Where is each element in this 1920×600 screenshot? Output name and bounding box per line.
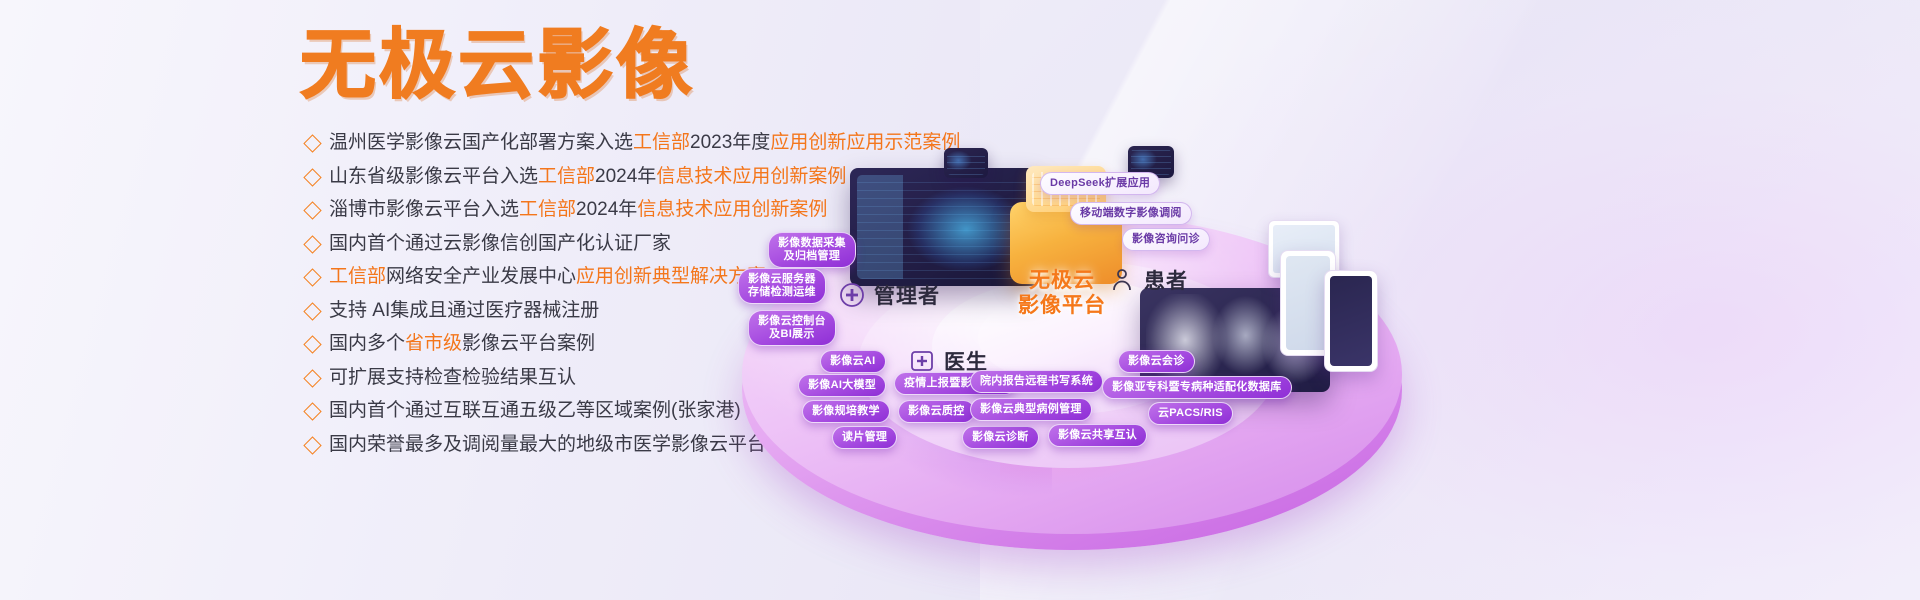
role-patient: 患者 [1108,265,1188,295]
bullet-plain: 国内多个 [329,333,405,354]
bullet-text: 可扩展支持检查检验结果互认 [329,361,576,395]
bullet-text: 支持 AI集成且通过医疗器械注册 [329,294,599,328]
bullet-plain: 温州医学影像云国产化部署方案入选 [329,132,633,153]
bullet-highlight: 工信部 [519,199,576,220]
pill-cloud-ai[interactable]: 影像云AI [820,350,886,373]
bullet-plain: 2024年 [595,166,656,187]
page-title: 无极云影像 [300,22,695,108]
doctor-badge-icon [908,348,935,375]
pill-console[interactable]: 影像云控制台 及BI展示 [748,310,836,346]
bullet-text: 工信部网络安全产业发展中心应用创新典型解决方案 [329,260,766,294]
bullet-highlight: 省市级 [405,333,462,354]
bullet-plain: 可扩展支持检查检验结果互认 [329,367,576,388]
pill-remote-report[interactable]: 院内报告远程书写系统 [970,370,1103,393]
diamond-bullet-icon [303,302,321,320]
pill-consultation[interactable]: 影像云会诊 [1118,350,1195,373]
pill-followup-db[interactable]: 影像亚专科暨专病种适配化数据库 [1102,376,1292,399]
diamond-bullet-icon [303,369,321,387]
bullet-text: 国内首个通过云影像信创国产化认证厂家 [329,227,671,261]
phone-device-dark [1324,270,1378,372]
bullet-plain: 2024年 [576,199,637,220]
role-admin: 管理者 [838,280,940,310]
diamond-bullet-icon [303,335,321,353]
center-label-line2: 影像平台 [982,293,1142,318]
small-screen-left [944,148,988,178]
pill-diagnosis[interactable]: 影像云诊断 [962,426,1039,449]
diamond-bullet-icon [303,402,321,420]
pill-deepseek[interactable]: DeepSeek扩展应用 [1040,172,1160,195]
pill-acquisition[interactable]: 影像数据采集 及归档管理 [768,232,856,268]
bullet-highlight: 工信部 [329,266,386,287]
diamond-bullet-icon [303,235,321,253]
banner-root: 无极云影像 温州医学影像云国产化部署方案入选工信部2023年度应用创新应用示范案… [0,0,1920,600]
bullet-plain: 国内首个通过云影像信创国产化认证厂家 [329,233,671,254]
bullet-text: 国内多个省市级影像云平台案例 [329,327,595,361]
patient-person-icon [1108,267,1135,294]
pill-pacs-ris[interactable]: 云PACS/RIS [1148,402,1233,425]
bullet-text: 国内首个通过互联互通五级乙等区域案例(张家港) [329,394,741,428]
bullet-highlight: 工信部 [538,166,595,187]
pill-storage[interactable]: 影像云服务器 存储检测运维 [738,268,826,304]
role-admin-label: 管理者 [874,280,940,310]
pill-teaching[interactable]: 影像规培教学 [802,400,890,423]
diamond-bullet-icon [303,201,321,219]
bullet-highlight: 工信部 [633,132,690,153]
diamond-bullet-icon [303,168,321,186]
bullet-plain: 山东省级影像云平台入选 [329,166,538,187]
pill-payment[interactable]: 读片管理 [832,426,897,449]
bullet-plain: 支持 AI集成且通过医疗器械注册 [329,300,599,321]
bullet-plain: 影像云平台案例 [462,333,595,354]
bullet-plain: 国内首个通过互联互通五级乙等区域案例(张家港) [329,400,741,421]
pill-typical-cases[interactable]: 影像云典型病例管理 [970,398,1092,421]
bullet-plain: 淄博市影像云平台入选 [329,199,519,220]
role-patient-label: 患者 [1144,265,1188,295]
diamond-bullet-icon [303,134,321,152]
admin-hospital-icon [838,282,865,309]
pill-ai-model[interactable]: 影像AI大模型 [798,374,886,397]
diamond-bullet-icon [303,436,321,454]
platform-diagram: 无极云 影像平台 管理者 医生 患者 DeepSeek扩展应用 移动端数字影像调… [720,110,1920,600]
pill-mobile-view[interactable]: 移动端数字影像调阅 [1070,202,1192,225]
bullet-plain: 网络安全产业发展中心 [386,266,576,287]
pill-consult[interactable]: 影像咨询问诊 [1122,228,1210,251]
pill-qc[interactable]: 影像云质控 [898,400,975,423]
pill-share-auth[interactable]: 影像云共享互认 [1048,424,1147,447]
diamond-bullet-icon [303,268,321,286]
